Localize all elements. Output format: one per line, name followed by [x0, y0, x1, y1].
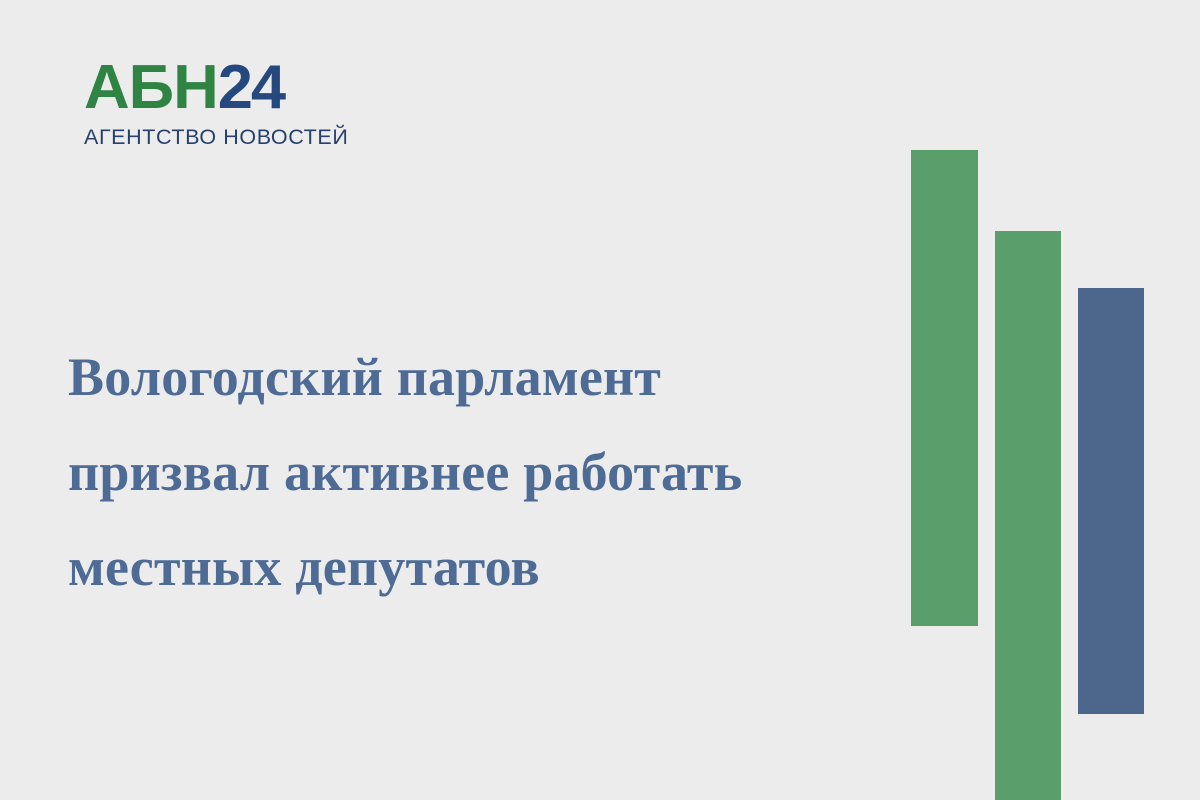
headline-line-1: Вологодский парламент: [68, 330, 868, 425]
headline: Вологодский парламент призвал активнее р…: [68, 330, 868, 615]
logo-brand-24: 24: [218, 53, 284, 122]
headline-line-2: призвал активнее работать: [68, 425, 868, 520]
logo-tagline: АГЕНТСТВО НОВОСТЕЙ: [84, 125, 374, 149]
decorative-bar-tall-green: [911, 150, 978, 626]
headline-line-3: местных депутатов: [68, 520, 868, 615]
news-card: АБН24 АГЕНТСТВО НОВОСТЕЙ Вологодский пар…: [0, 0, 1200, 800]
logo[interactable]: АБН24 АГЕНТСТВО НОВОСТЕЙ: [84, 57, 374, 149]
logo-wordmark: АБН24: [84, 57, 380, 119]
logo-brand-abn: АБН: [84, 53, 218, 122]
decorative-bar-short-blue: [1078, 288, 1144, 714]
decorative-bar-mid-green: [995, 231, 1061, 800]
